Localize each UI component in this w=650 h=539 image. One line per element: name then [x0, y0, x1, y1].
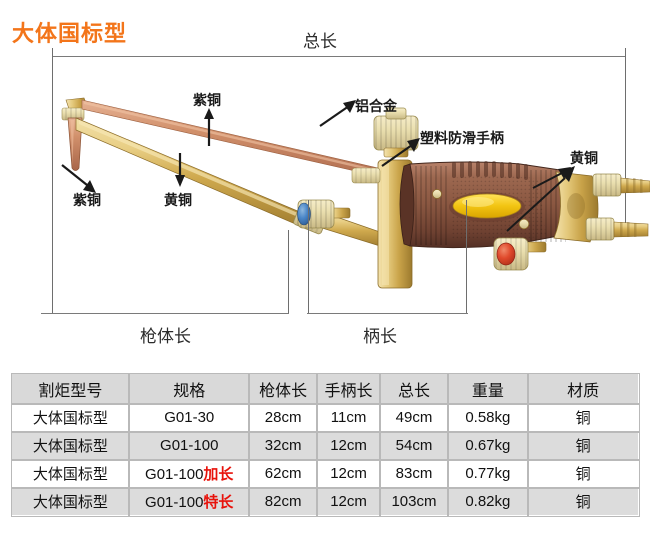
- arrow-copper-nozzle-icon: [62, 165, 96, 193]
- arrow-copper-top-icon: [200, 108, 218, 146]
- cell-model: 大体国标型: [12, 460, 130, 488]
- cell-total-length: 54cm: [380, 432, 448, 460]
- table-row: 大体国标型 G01-30 28cm 11cm 49cm 0.58kg 铜: [12, 404, 639, 432]
- cell-grip-length: 12cm: [317, 460, 380, 488]
- arrow-brass-right-lower-icon: [507, 166, 575, 232]
- handle-length-label: 柄长: [363, 322, 397, 347]
- arrow-brass-left-icon: [171, 153, 189, 187]
- cell-total-length: 103cm: [380, 488, 448, 516]
- cell-spec-base: G01-30: [164, 409, 214, 426]
- body-length-dimension-line: [41, 313, 289, 314]
- page-title: 大体国标型: [12, 16, 127, 48]
- cell-grip-length: 12cm: [317, 488, 380, 516]
- cell-weight: 0.58kg: [448, 404, 528, 432]
- table-header-spec: 规格: [129, 374, 249, 404]
- cell-body-length: 62cm: [249, 460, 317, 488]
- cell-model: 大体国标型: [12, 404, 130, 432]
- cell-material: 铜: [528, 488, 639, 516]
- cell-total-length: 83cm: [380, 460, 448, 488]
- annotation-brass-left: 黄铜: [164, 190, 192, 210]
- body-length-tick-left: [52, 230, 53, 313]
- cell-body-length: 32cm: [249, 432, 317, 460]
- table-header-body-length: 枪体长: [249, 374, 317, 404]
- cell-spec: G01-100特长: [129, 488, 249, 516]
- cell-spec-suffix: 特长: [203, 494, 233, 511]
- table-header-model: 割炬型号: [12, 374, 130, 404]
- cell-weight: 0.77kg: [448, 460, 528, 488]
- table-header-weight: 重量: [448, 374, 528, 404]
- handle-length-tick-left: [308, 200, 309, 313]
- cell-material: 铜: [528, 432, 639, 460]
- annotation-copper-top: 紫铜: [193, 90, 221, 110]
- cell-model: 大体国标型: [12, 432, 130, 460]
- body-length-label: 枪体长: [140, 322, 191, 347]
- table-row: 大体国标型 G01-100加长 62cm 12cm 83cm 0.77kg 铜: [12, 460, 639, 488]
- cell-material: 铜: [528, 460, 639, 488]
- cell-spec: G01-100加长: [129, 460, 249, 488]
- cell-weight: 0.82kg: [448, 488, 528, 516]
- cell-spec-base: G01-100: [145, 466, 203, 483]
- total-length-dimension-line: [52, 56, 625, 57]
- table-header-total-length: 总长: [380, 374, 448, 404]
- table-header-row: 割炬型号 规格 枪体长 手柄长 总长 重量 材质: [12, 374, 639, 404]
- specification-table: 割炬型号 规格 枪体长 手柄长 总长 重量 材质 大体国标型 G01-30 28…: [11, 373, 639, 516]
- annotation-plastic-grip: 塑料防滑手柄: [420, 128, 504, 148]
- table-header-grip-length: 手柄长: [317, 374, 380, 404]
- table-row: 大体国标型 G01-100 32cm 12cm 54cm 0.67kg 铜: [12, 432, 639, 460]
- total-length-label: 总长: [303, 27, 337, 52]
- cell-spec: G01-100: [129, 432, 249, 460]
- annotation-aluminum-alloy: 铝合金: [355, 96, 397, 116]
- cell-total-length: 49cm: [380, 404, 448, 432]
- cell-spec-base: G01-100: [160, 437, 218, 454]
- annotation-copper-nozzle: 紫铜: [73, 190, 101, 210]
- cell-grip-length: 11cm: [317, 404, 380, 432]
- cell-body-length: 28cm: [249, 404, 317, 432]
- cell-material: 铜: [528, 404, 639, 432]
- cell-spec: G01-30: [129, 404, 249, 432]
- handle-length-dimension-line: [307, 313, 468, 314]
- table-row: 大体国标型 G01-100特长 82cm 12cm 103cm 0.82kg 铜: [12, 488, 639, 516]
- body-length-tick-right: [288, 230, 289, 313]
- cell-model: 大体国标型: [12, 488, 130, 516]
- cell-grip-length: 12cm: [317, 432, 380, 460]
- cell-spec-suffix: 加长: [203, 466, 233, 483]
- table-header-material: 材质: [528, 374, 639, 404]
- cell-body-length: 82cm: [249, 488, 317, 516]
- cell-spec-base: G01-100: [145, 494, 203, 511]
- arrow-plastic-grip-icon: [382, 138, 420, 166]
- arrow-aluminum-alloy-icon: [320, 100, 356, 126]
- handle-length-tick-right: [466, 200, 467, 313]
- annotation-brass-right: 黄铜: [570, 148, 598, 168]
- cell-weight: 0.67kg: [448, 432, 528, 460]
- product-spec-page: 大体国标型 总长: [0, 0, 650, 539]
